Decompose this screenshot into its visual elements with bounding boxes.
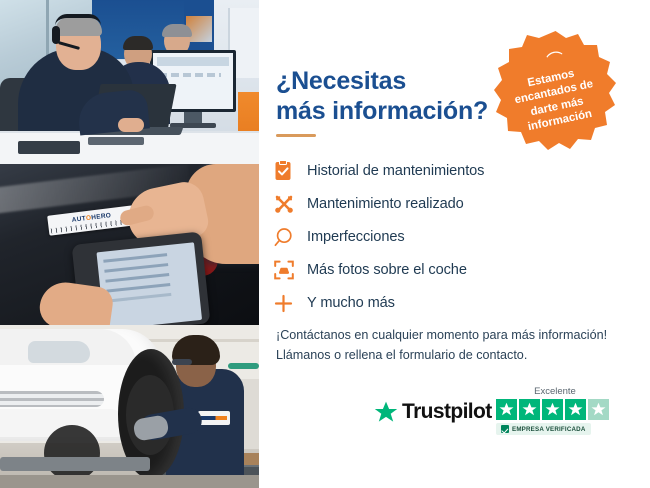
- title-divider: [276, 134, 316, 137]
- list-item-label: Más fotos sobre el coche: [307, 263, 467, 278]
- trustpilot-star-icon: [374, 401, 398, 424]
- contact-line-1: ¡Contáctanos en cualquier momento para m…: [276, 325, 626, 345]
- verified-badge-label: EMPRESA VERIFICADA: [512, 426, 586, 433]
- clipboard-check-icon: [273, 160, 307, 182]
- trustpilot-wordmark: Trustpilot: [402, 400, 492, 424]
- list-item-label: Historial de mantenimientos: [307, 164, 484, 179]
- promo-card: AUTOHERO ¿Necesitas más información: [0, 0, 650, 488]
- star-filled: [565, 399, 586, 420]
- plus-icon: [273, 293, 307, 314]
- list-item-label: Imperfecciones: [307, 230, 405, 245]
- trustpilot-widget[interactable]: Trustpilot Excelente EMPRESA VERIFICADA: [374, 386, 614, 448]
- feature-list: Historial de mantenimientos M: [273, 155, 573, 320]
- content-panel: ¿Necesitas más información? ⌒ Estamos en…: [259, 0, 650, 488]
- list-item: Imperfecciones: [273, 221, 573, 253]
- star-filled: [519, 399, 540, 420]
- vehicle-inspection-photo: AUTOHERO: [0, 164, 259, 325]
- promo-badge: ⌒ Estamos encantados de darte más inform…: [492, 29, 619, 153]
- photo-column: AUTOHERO: [0, 0, 259, 488]
- magnifier-icon: [273, 227, 307, 248]
- star-filled: [542, 399, 563, 420]
- list-item: Historial de mantenimientos: [273, 155, 573, 187]
- star-filled: [496, 399, 517, 420]
- trustpilot-logo[interactable]: Trustpilot: [374, 400, 492, 424]
- list-item: Más fotos sobre el coche: [273, 254, 573, 286]
- list-item-label: Mantenimiento realizado: [307, 197, 464, 212]
- verified-check-icon: [501, 425, 509, 433]
- star-partial: [588, 399, 609, 420]
- trustpilot-rating: Excelente EMPRESA VERIFICADA: [496, 386, 614, 438]
- tools-crossed-icon: [273, 193, 307, 215]
- verified-business-badge: EMPRESA VERIFICADA: [496, 423, 591, 435]
- contact-line-2: Llámanos o rellena el formulario de cont…: [276, 345, 626, 365]
- list-item: Mantenimiento realizado: [273, 188, 573, 220]
- page-title-line2: más información?: [276, 97, 488, 125]
- contact-text: ¡Contáctanos en cualquier momento para m…: [276, 325, 626, 366]
- call-center-photo: [0, 0, 259, 164]
- list-item-label: Y mucho más: [307, 296, 395, 311]
- workshop-tire-photo: [0, 325, 259, 488]
- page-title-line1: ¿Necesitas: [276, 67, 406, 95]
- page-title: ¿Necesitas más información?: [276, 66, 526, 127]
- rating-label: Excelente: [496, 386, 614, 397]
- star-rating: [496, 399, 614, 420]
- car-scan-icon: [273, 259, 307, 281]
- list-item: Y mucho más: [273, 287, 573, 319]
